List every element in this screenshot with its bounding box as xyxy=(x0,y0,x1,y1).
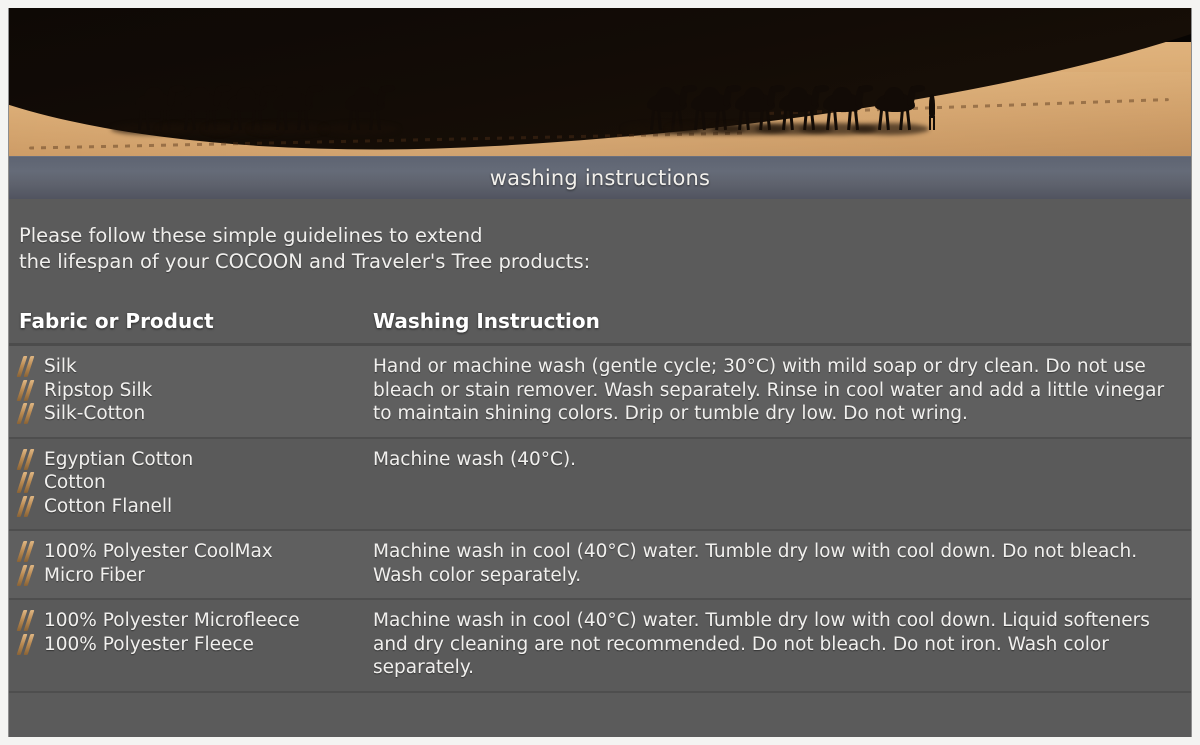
fabric-label: 100% Polyester Microfleece xyxy=(44,610,300,631)
fabric-list: Egyptian Cotton Cotton Cotton Flanell xyxy=(17,448,357,519)
fabric-label: Ripstop Silk xyxy=(44,380,152,401)
list-item: Silk xyxy=(17,355,357,379)
table-header: Fabric or Product Washing Instruction xyxy=(9,303,1191,345)
double-slash-bullet-icon xyxy=(17,380,39,402)
camel-icon xyxy=(265,84,327,130)
fabric-list: 100% Polyester Microfleece 100% Polyeste… xyxy=(17,609,357,656)
instruction-cell: Machine wash (40°C). xyxy=(367,438,1191,531)
double-slash-bullet-icon xyxy=(17,472,39,494)
double-slash-bullet-icon xyxy=(17,610,39,632)
bottom-spacer xyxy=(9,693,1191,699)
column-header-instruction: Washing Instruction xyxy=(367,303,1191,345)
desert-caravan-banner-image xyxy=(9,8,1191,156)
list-item: Silk-Cotton xyxy=(17,402,357,426)
fabric-label: Silk xyxy=(44,356,77,377)
list-item: 100% Polyester Fleece xyxy=(17,633,357,657)
instruction-cell: Hand or machine wash (gentle cycle; 30°C… xyxy=(367,345,1191,438)
fabric-list: 100% Polyester CoolMax Micro Fiber xyxy=(17,540,357,587)
fabric-cell: 100% Polyester Microfleece 100% Polyeste… xyxy=(9,599,367,692)
fabric-cell: 100% Polyester CoolMax Micro Fiber xyxy=(9,530,367,599)
camel-herder-figure xyxy=(927,90,937,130)
fabric-cell: Egyptian Cotton Cotton Cotton Flanell xyxy=(9,438,367,531)
double-slash-bullet-icon xyxy=(17,541,39,563)
table-row: 100% Polyester Microfleece 100% Polyeste… xyxy=(9,599,1191,692)
fabric-label: Egyptian Cotton xyxy=(44,449,193,470)
camel-icon xyxy=(867,84,929,130)
double-slash-bullet-icon xyxy=(17,403,39,425)
page-title: washing instructions xyxy=(490,166,710,190)
intro-line-1: Please follow these simple guidelines to… xyxy=(19,223,1191,249)
camel-icon xyxy=(337,84,399,130)
fabric-label: Cotton Flanell xyxy=(44,496,172,517)
instruction-cell: Machine wash in cool (40°C) water. Tumbl… xyxy=(367,530,1191,599)
washing-instructions-table: Fabric or Product Washing Instruction Si… xyxy=(9,303,1191,693)
instruction-cell: Machine wash in cool (40°C) water. Tumbl… xyxy=(367,599,1191,692)
column-header-fabric: Fabric or Product xyxy=(9,303,367,345)
fabric-label: Micro Fiber xyxy=(44,565,145,586)
content-area: Please follow these simple guidelines to… xyxy=(9,199,1191,699)
list-item: Cotton Flanell xyxy=(17,495,357,519)
fabric-label: 100% Polyester CoolMax xyxy=(44,541,273,562)
double-slash-bullet-icon xyxy=(17,449,39,471)
list-item: Cotton xyxy=(17,471,357,495)
intro-line-2: the lifespan of your COCOON and Traveler… xyxy=(19,249,1191,275)
double-slash-bullet-icon xyxy=(17,496,39,518)
fabric-label: 100% Polyester Fleece xyxy=(44,634,254,655)
fabric-cell: Silk Ripstop Silk Silk-Cotton xyxy=(9,345,367,438)
page-body: washing instructions Please follow these… xyxy=(8,8,1192,737)
list-item: Egyptian Cotton xyxy=(17,448,357,472)
list-item: Micro Fiber xyxy=(17,564,357,588)
table-row: Egyptian Cotton Cotton Cotton Flanell xyxy=(9,438,1191,531)
table-body: Silk Ripstop Silk Silk-Cotton xyxy=(9,345,1191,692)
double-slash-bullet-icon xyxy=(17,634,39,656)
list-item: 100% Polyester CoolMax xyxy=(17,540,357,564)
page-frame: washing instructions Please follow these… xyxy=(0,0,1200,745)
list-item: 100% Polyester Microfleece xyxy=(17,609,357,633)
double-slash-bullet-icon xyxy=(17,356,39,378)
page-title-bar: washing instructions xyxy=(9,156,1191,199)
table-header-row: Fabric or Product Washing Instruction xyxy=(9,303,1191,345)
double-slash-bullet-icon xyxy=(17,565,39,587)
fabric-list: Silk Ripstop Silk Silk-Cotton xyxy=(17,355,357,426)
table-row: 100% Polyester CoolMax Micro Fiber Machi… xyxy=(9,530,1191,599)
list-item: Ripstop Silk xyxy=(17,379,357,403)
table-row: Silk Ripstop Silk Silk-Cotton xyxy=(9,345,1191,438)
intro-paragraph: Please follow these simple guidelines to… xyxy=(9,199,1191,275)
fabric-label: Silk-Cotton xyxy=(44,403,145,424)
fabric-label: Cotton xyxy=(44,472,106,493)
